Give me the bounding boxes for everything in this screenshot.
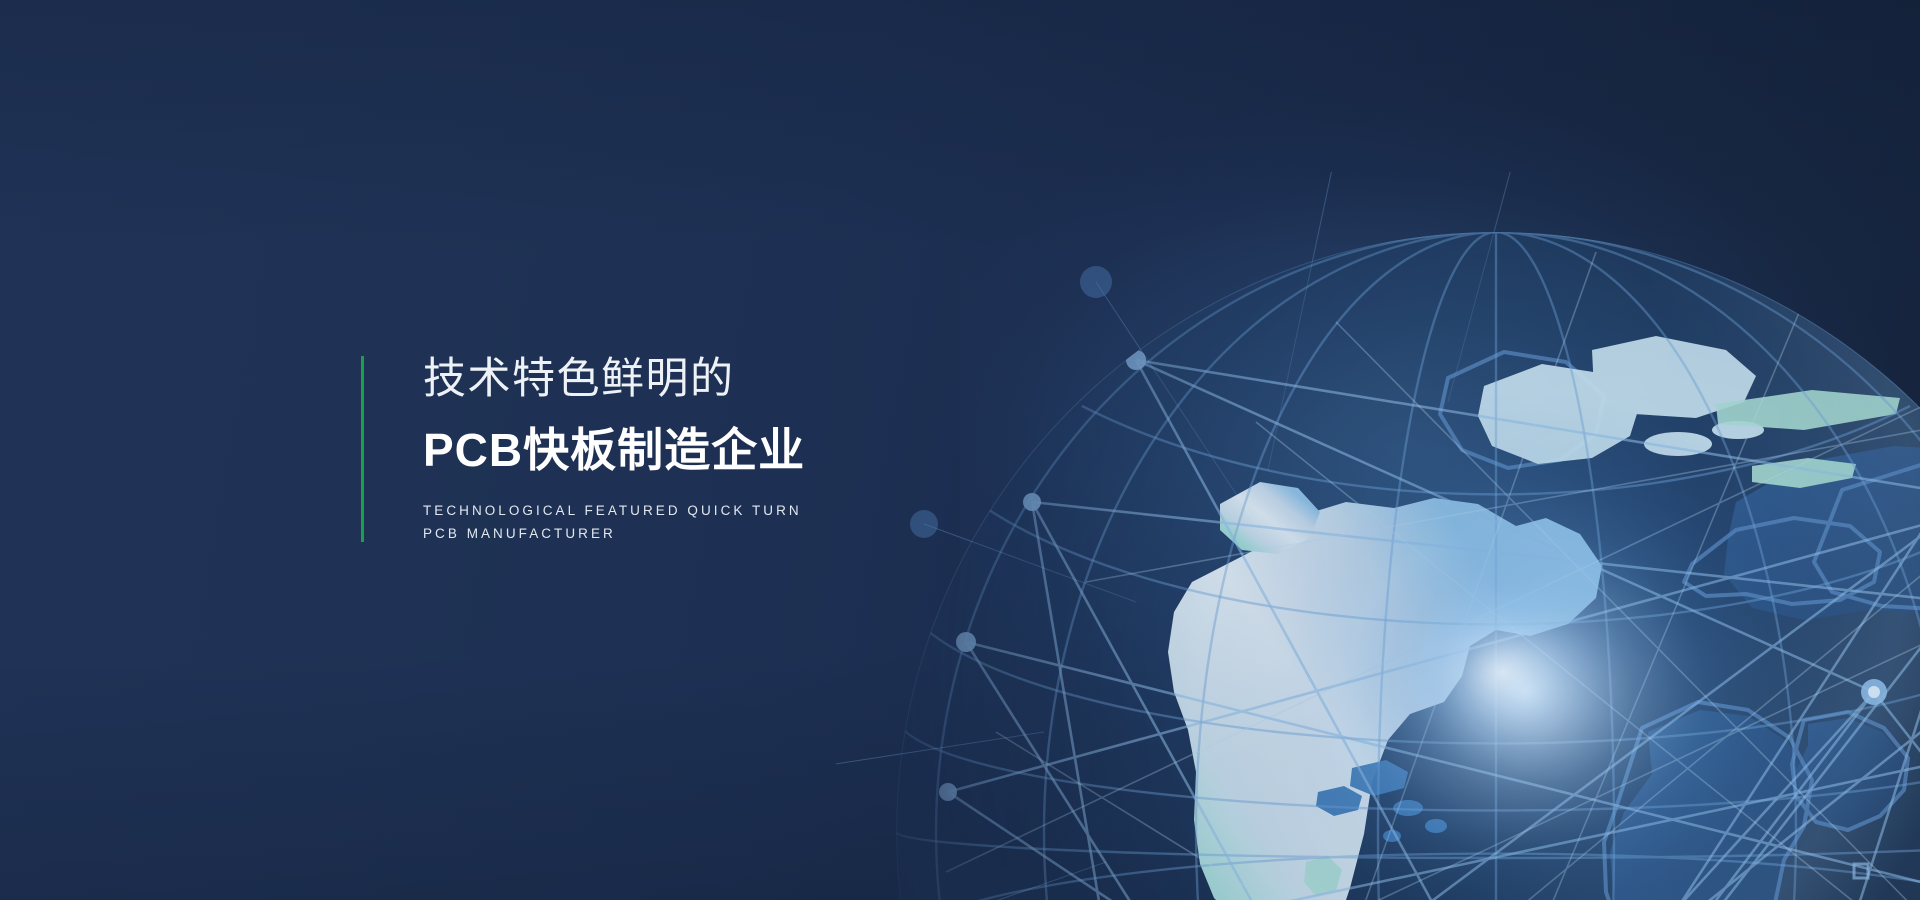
subtitle-block: TECHNOLOGICAL FEATURED QUICK TURN PCB MA…	[423, 499, 805, 545]
background-vertical-shade	[0, 0, 1920, 900]
hero-text-block: 技术特色鲜明的 PCB快板制造企业 TECHNOLOGICAL FEATURED…	[361, 356, 805, 542]
hero-banner: 技术特色鲜明的 PCB快板制造企业 TECHNOLOGICAL FEATURED…	[0, 0, 1920, 900]
headline-light: 技术特色鲜明的	[423, 358, 805, 401]
subtitle-line-1: TECHNOLOGICAL FEATURED QUICK TURN	[423, 499, 805, 522]
headline-bold: PCB快板制造企业	[423, 427, 805, 473]
subtitle-line-2: PCB MANUFACTURER	[423, 522, 805, 545]
